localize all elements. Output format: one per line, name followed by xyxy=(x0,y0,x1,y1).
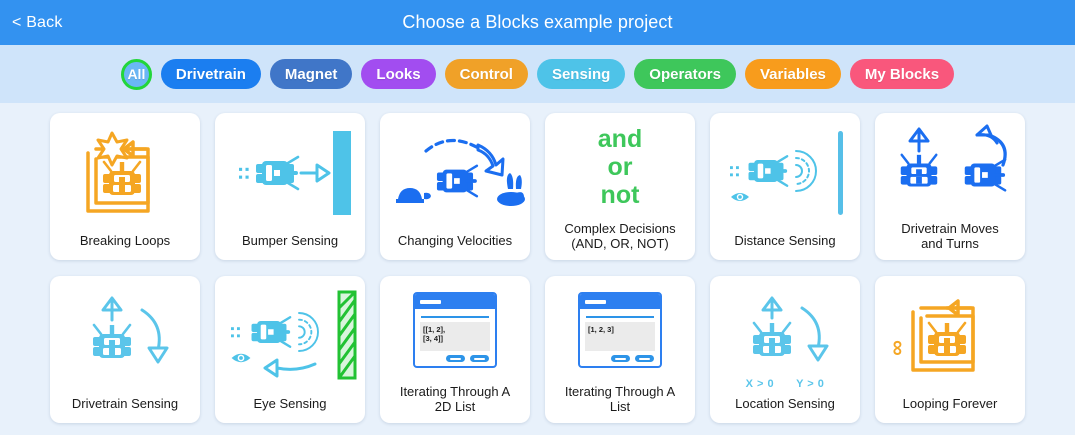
filter-chip-label: Sensing xyxy=(552,66,610,83)
example-card-drivetrain-sensing[interactable]: Drivetrain Sensing xyxy=(50,276,200,423)
card-label: Location Sensing xyxy=(710,396,860,423)
card-label: Bumper Sensing xyxy=(215,233,365,260)
filter-chip-all[interactable]: All xyxy=(121,59,152,90)
example-card-looping-forever[interactable]: ∞Looping Forever xyxy=(875,276,1025,423)
console-titlebar xyxy=(415,294,495,309)
console-window: [[1, 2], [3, 4]] xyxy=(413,292,497,368)
console-divider xyxy=(421,316,489,318)
filter-chip-label: Control xyxy=(460,66,513,83)
card-artwork-changing-velocities-icon xyxy=(380,113,530,233)
filter-chip-looks[interactable]: Looks xyxy=(361,59,435,89)
console-output: [1, 2, 3] xyxy=(585,322,655,351)
filter-chip-control[interactable]: Control xyxy=(445,59,528,89)
titlebar-stripe xyxy=(420,300,441,304)
logic-words: andornot xyxy=(598,125,642,209)
filter-chip-variables[interactable]: Variables xyxy=(745,59,841,89)
card-artwork-bumper-sensing-icon xyxy=(215,113,365,233)
filter-chip-my-blocks[interactable]: My Blocks xyxy=(850,59,954,89)
page-title: Choose a Blocks example project xyxy=(0,12,1075,33)
card-artwork-breaking-loops-icon xyxy=(50,113,200,233)
example-card-distance-sensing[interactable]: Distance Sensing xyxy=(710,113,860,260)
category-filter-bar: AllDrivetrainMagnetLooksControlSensingOp… xyxy=(0,45,1075,103)
card-artwork-looping-forever-icon: ∞ xyxy=(875,276,1025,396)
card-label: Iterating Through A 2D List xyxy=(380,384,530,423)
example-card-iterating-2d-list[interactable]: [[1, 2], [3, 4]] Iterating Through A 2D … xyxy=(380,276,530,423)
card-label: Drivetrain Moves and Turns xyxy=(875,221,1025,260)
filter-chip-sensing[interactable]: Sensing xyxy=(537,59,625,89)
svg-text:∞: ∞ xyxy=(886,340,911,356)
filter-chip-drivetrain[interactable]: Drivetrain xyxy=(161,59,261,89)
axis-y-label: Y > 0 xyxy=(796,378,824,390)
axis-labels: X > 0 Y > 0 xyxy=(710,378,860,390)
console-output: [[1, 2], [3, 4]] xyxy=(420,322,490,351)
console-button[interactable] xyxy=(611,355,630,362)
card-label: Complex Decisions (AND, OR, NOT) xyxy=(545,221,695,260)
filter-chip-label: All xyxy=(127,66,145,82)
card-artwork-iterating-list-icon: [1, 2, 3] xyxy=(545,276,695,384)
console-button[interactable] xyxy=(470,355,489,362)
card-artwork-eye-sensing-icon xyxy=(215,276,365,396)
filter-chip-label: Variables xyxy=(760,66,826,83)
card-label: Eye Sensing xyxy=(215,396,365,423)
example-card-complex-decisions[interactable]: andornotComplex Decisions (AND, OR, NOT) xyxy=(545,113,695,260)
card-artwork-location-sensing-icon: X > 0 Y > 0 xyxy=(710,276,860,396)
example-card-location-sensing[interactable]: X > 0 Y > 0Location Sensing xyxy=(710,276,860,423)
titlebar-stripe xyxy=(585,300,606,304)
example-card-breaking-loops[interactable]: Breaking Loops xyxy=(50,113,200,260)
filter-chip-label: My Blocks xyxy=(865,66,939,83)
card-artwork-complex-decisions-icon: andornot xyxy=(545,113,695,221)
example-card-eye-sensing[interactable]: Eye Sensing xyxy=(215,276,365,423)
example-card-grid: Breaking Loops Bumper Sensing Changing V… xyxy=(0,103,1075,435)
filter-chip-label: Drivetrain xyxy=(176,66,246,83)
filter-chip-label: Operators xyxy=(649,66,721,83)
filter-chip-operators[interactable]: Operators xyxy=(634,59,736,89)
console-divider xyxy=(586,316,654,318)
logic-word-and: and xyxy=(598,125,642,153)
card-artwork-drivetrain-moves-turns-icon xyxy=(875,113,1025,221)
console-buttons xyxy=(580,355,660,366)
back-button[interactable]: < Back xyxy=(12,14,63,32)
card-label: Distance Sensing xyxy=(710,233,860,260)
card-artwork-distance-sensing-icon xyxy=(710,113,860,233)
logic-word-not: not xyxy=(601,181,640,209)
console-window: [1, 2, 3] xyxy=(578,292,662,368)
card-label: Breaking Loops xyxy=(50,233,200,260)
card-label: Iterating Through A List xyxy=(545,384,695,423)
filter-chip-magnet[interactable]: Magnet xyxy=(270,59,353,89)
header-bar: < Back Choose a Blocks example project xyxy=(0,0,1075,45)
card-artwork-drivetrain-sensing-icon xyxy=(50,276,200,396)
console-buttons xyxy=(415,355,495,366)
example-card-drivetrain-moves-turns[interactable]: Drivetrain Moves and Turns xyxy=(875,113,1025,260)
card-artwork-iterating-2d-list-icon: [[1, 2], [3, 4]] xyxy=(380,276,530,384)
logic-word-or: or xyxy=(607,153,632,181)
console-titlebar xyxy=(580,294,660,309)
console-button[interactable] xyxy=(446,355,465,362)
example-card-changing-velocities[interactable]: Changing Velocities xyxy=(380,113,530,260)
example-card-bumper-sensing[interactable]: Bumper Sensing xyxy=(215,113,365,260)
card-label: Looping Forever xyxy=(875,396,1025,423)
filter-chip-label: Magnet xyxy=(285,66,338,83)
filter-chip-label: Looks xyxy=(376,66,420,83)
example-project-picker: < Back Choose a Blocks example project A… xyxy=(0,0,1075,435)
console-button[interactable] xyxy=(635,355,654,362)
card-label: Drivetrain Sensing xyxy=(50,396,200,423)
example-card-iterating-list[interactable]: [1, 2, 3] Iterating Through A List xyxy=(545,276,695,423)
card-label: Changing Velocities xyxy=(380,233,530,260)
axis-x-label: X > 0 xyxy=(746,378,775,390)
